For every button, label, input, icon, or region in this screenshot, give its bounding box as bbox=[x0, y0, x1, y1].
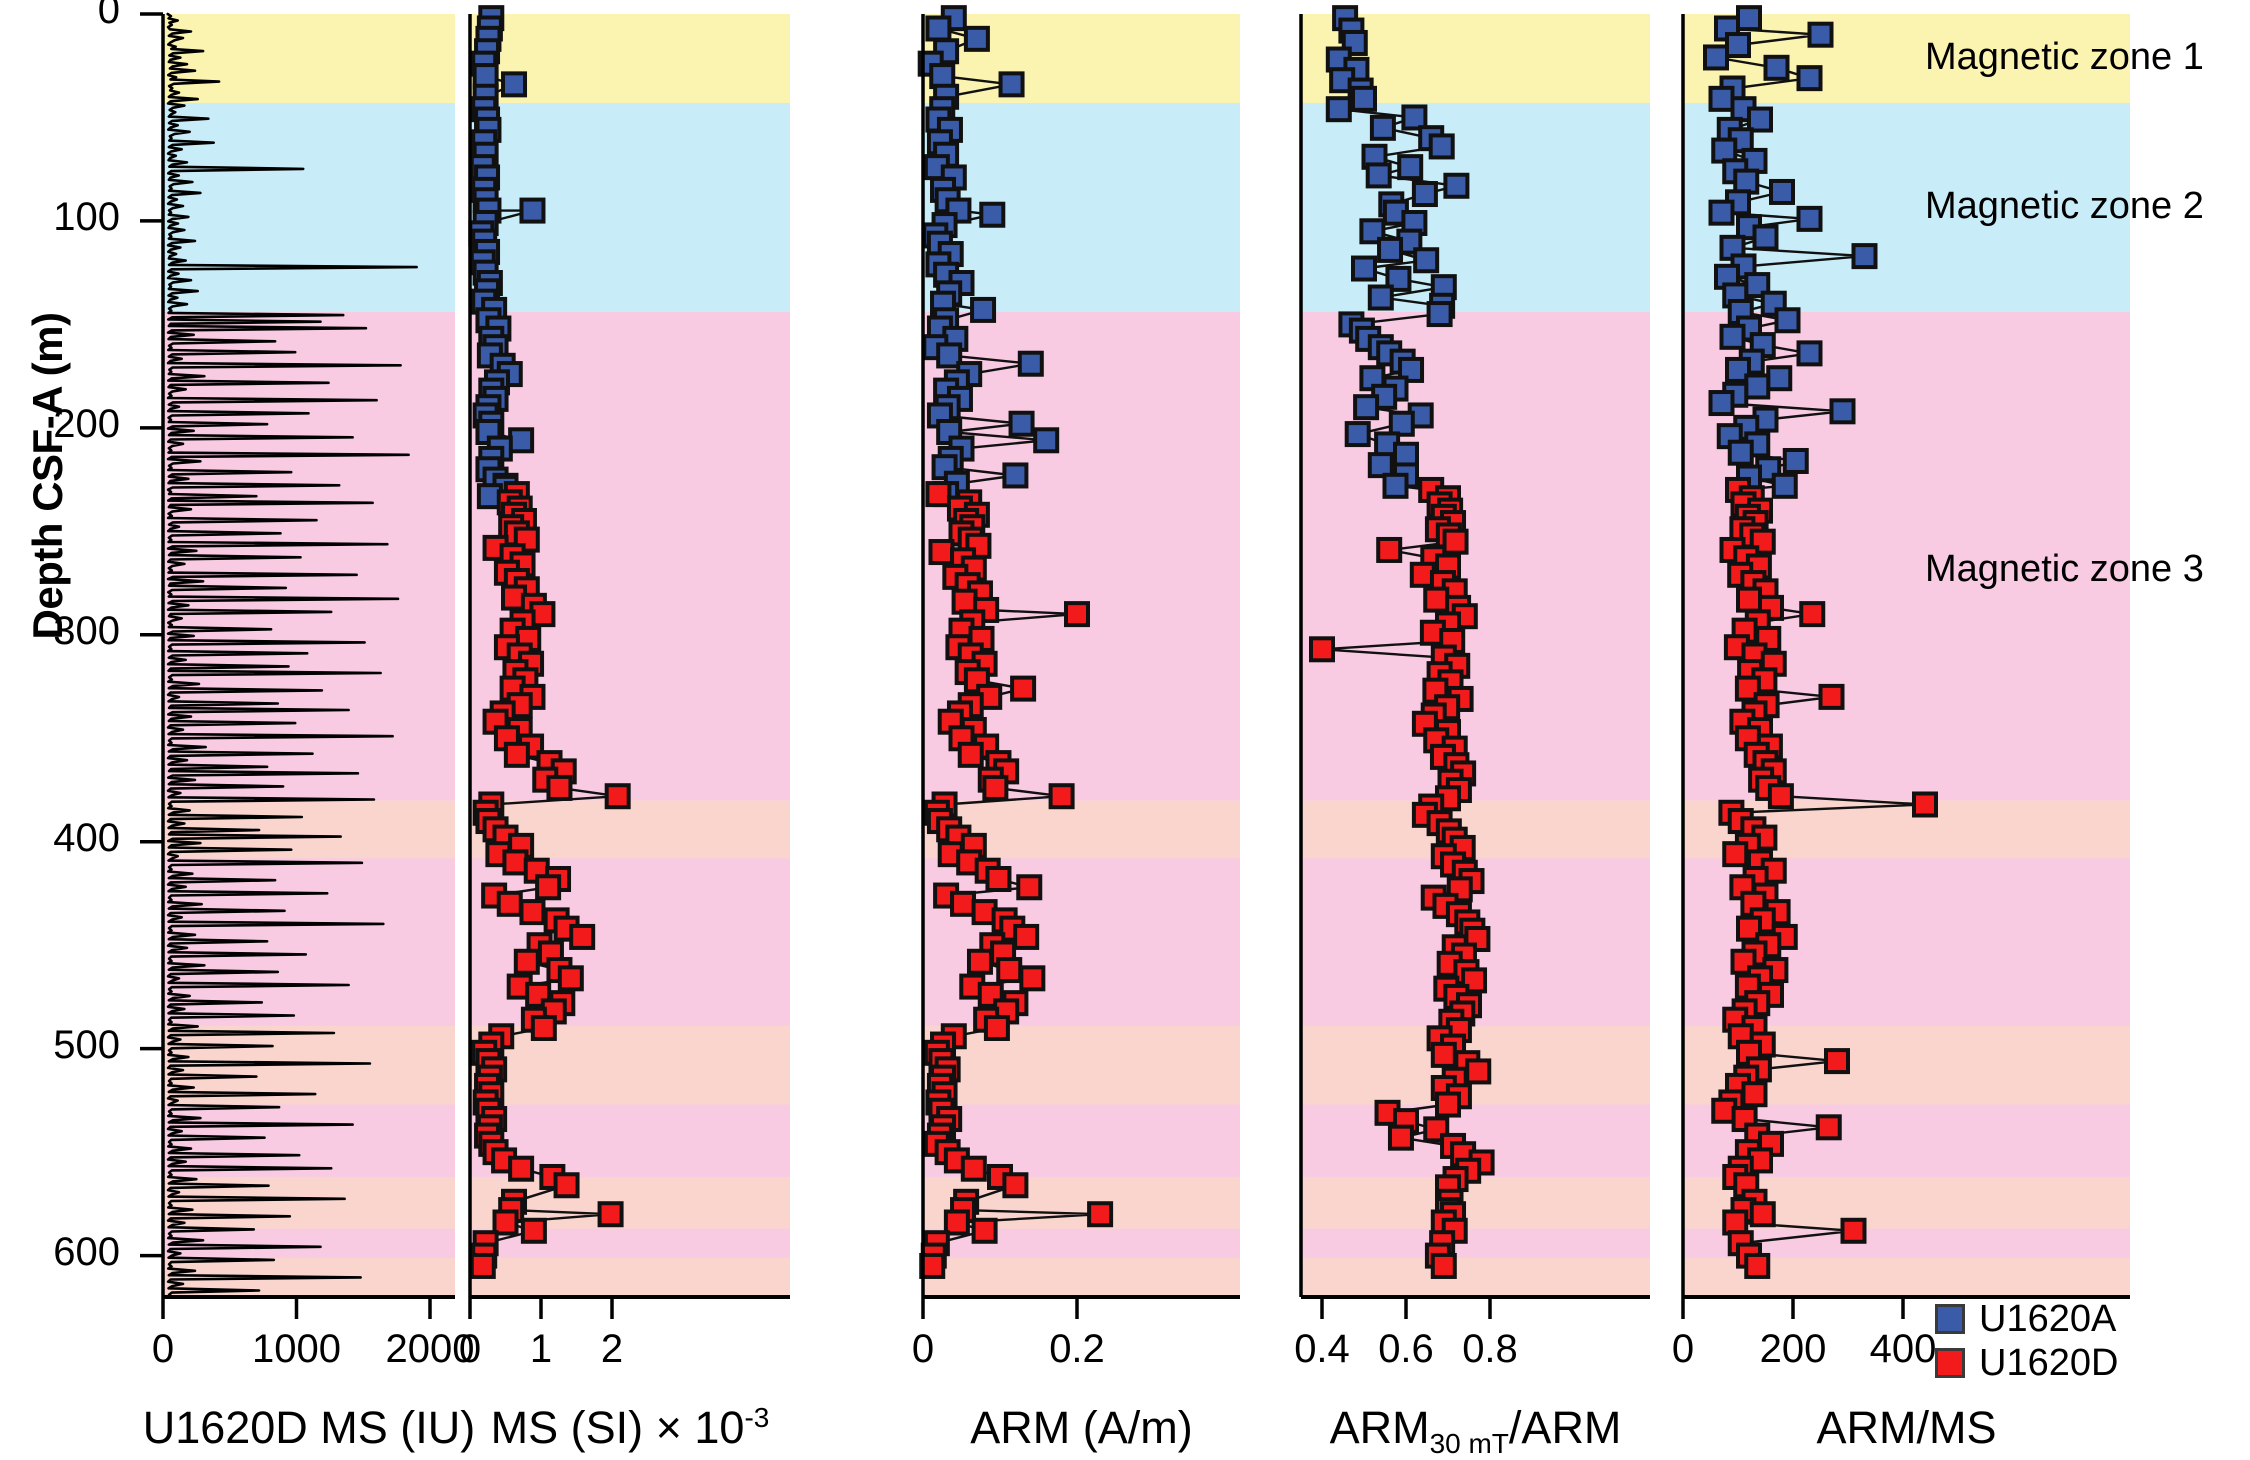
legend: U1620A U1620D bbox=[1935, 1300, 2118, 1388]
legend-swatch-u1620a bbox=[1935, 1304, 1965, 1334]
y-tick-300: 300 bbox=[0, 609, 120, 654]
x-tick-p3-0.2: 0.2 bbox=[1007, 1327, 1147, 1372]
legend-item-u1620d: U1620D bbox=[1935, 1344, 2118, 1382]
zone-label-1: Magnetic zone 1 bbox=[1925, 36, 2204, 79]
panel-label-2: MS (SI) × 10-3 bbox=[370, 1402, 890, 1454]
y-tick-600: 600 bbox=[0, 1230, 120, 1275]
panel-label-5: ARM/MS bbox=[1647, 1402, 2167, 1454]
x-tick-p3-0: 0 bbox=[853, 1327, 993, 1372]
x-tick-p1-1000: 1000 bbox=[227, 1327, 367, 1372]
y-tick-400: 400 bbox=[0, 816, 120, 861]
legend-item-u1620a: U1620A bbox=[1935, 1300, 2118, 1338]
zone-label-3: Magnetic zone 3 bbox=[1925, 548, 2204, 591]
legend-swatch-u1620d bbox=[1935, 1348, 1965, 1378]
legend-label-u1620a: U1620A bbox=[1979, 1300, 2116, 1338]
y-tick-200: 200 bbox=[0, 402, 120, 447]
y-tick-0: 0 bbox=[0, 0, 120, 33]
y-axis-label: Depth CSF-A (m) bbox=[24, 216, 72, 736]
x-tick-p2-2: 2 bbox=[542, 1327, 682, 1372]
y-tick-100: 100 bbox=[0, 195, 120, 240]
magnetostratigraphy-figure bbox=[0, 0, 2250, 1437]
zone-label-2: Magnetic zone 2 bbox=[1925, 185, 2204, 228]
x-tick-p1-0: 0 bbox=[93, 1327, 233, 1372]
x-tick-p4-0.8: 0.8 bbox=[1420, 1327, 1560, 1372]
legend-label-u1620d: U1620D bbox=[1979, 1344, 2118, 1382]
y-tick-500: 500 bbox=[0, 1023, 120, 1068]
